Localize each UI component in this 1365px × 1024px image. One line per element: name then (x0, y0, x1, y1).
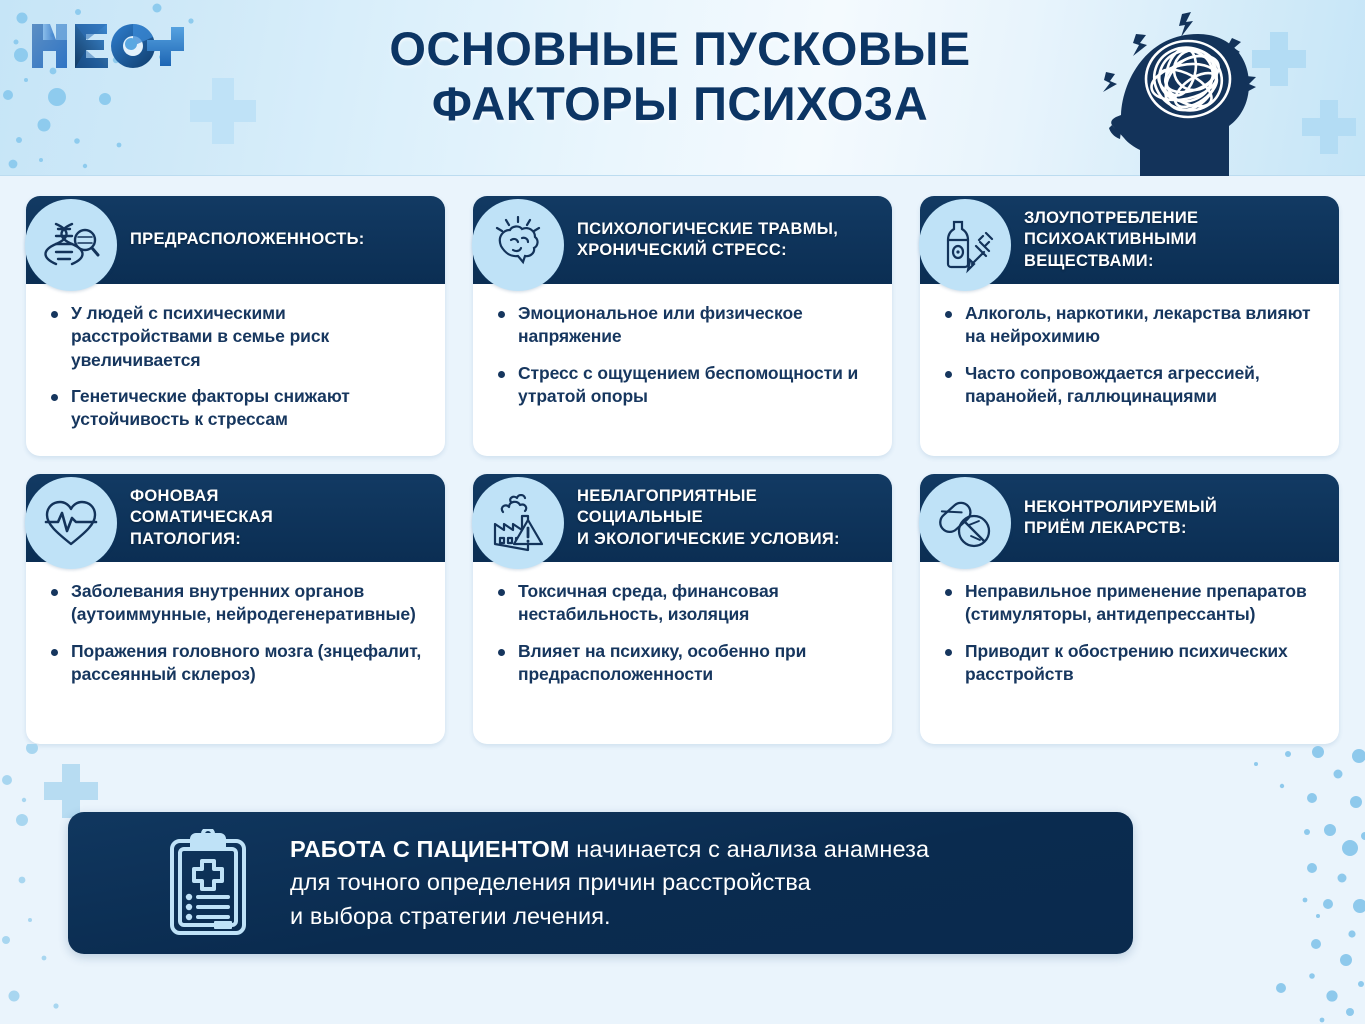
page-title-line-2: ФАКТОРЫ ПСИХОЗА (300, 77, 1060, 132)
cards-row-2: ФОНОВАЯ СОМАТИЧЕСКАЯ ПАТОЛОГИЯ: Заболева… (26, 474, 1339, 744)
head-with-tangled-thoughts-icon (1086, 4, 1286, 176)
card-title-line: ПРЕДРАСПОЛОЖЕННОСТЬ: (130, 229, 365, 250)
card-substance-abuse[interactable]: ЗЛОУПОТРЕБЛЕНИЕ ПСИХОАКТИВНЫМИ ВЕЩЕСТВАМ… (920, 196, 1339, 456)
card-title-line: ФОНОВАЯ (130, 486, 273, 507)
footer-banner: РАБОТА С ПАЦИЕНТОМ начинается с анализа … (68, 812, 1133, 954)
card-header: НЕКОНТРОЛИРУЕМЫЙ ПРИЁМ ЛЕКАРСТВ: (920, 474, 1339, 562)
card-title-line: ПСИХОАКТИВНЫМИ (1024, 229, 1198, 250)
card-body: Заболевания внутренних органов (аутоимму… (26, 562, 445, 709)
list-item: У людей с психическими расстройствами в … (46, 302, 427, 372)
card-title: НЕБЛАГОПРИЯТНЫЕ СОЦИАЛЬНЫЕ И ЭКОЛОГИЧЕСК… (577, 486, 852, 549)
pills-icon (919, 477, 1011, 569)
footer-bold-phrase: РАБОТА С ПАЦИЕНТОМ (290, 836, 570, 862)
list-item: Влияет на психику, особенно при предрасп… (493, 640, 874, 687)
card-title: ФОНОВАЯ СОМАТИЧЕСКАЯ ПАТОЛОГИЯ: (130, 486, 285, 549)
card-title-line: ПАТОЛОГИЯ: (130, 529, 273, 550)
page-title: ОСНОВНЫЕ ПУСКОВЫЕ ФАКТОРЫ ПСИХОЗА (300, 22, 1060, 132)
list-item: Неправильное применение препаратов (стим… (940, 580, 1321, 627)
clipboard-medical-icon (166, 829, 250, 937)
card-header: ЗЛОУПОТРЕБЛЕНИЕ ПСИХОАКТИВНЫМИ ВЕЩЕСТВАМ… (920, 196, 1339, 284)
card-title-line: И ЭКОЛОГИЧЕСКИЕ УСЛОВИЯ: (577, 529, 840, 550)
list-item: Приводит к обострению психических расстр… (940, 640, 1321, 687)
card-predisposition[interactable]: ПРЕДРАСПОЛОЖЕННОСТЬ: У людей с психическ… (26, 196, 445, 456)
card-header: ПСИХОЛОГИЧЕСКИЕ ТРАВМЫ, ХРОНИЧЕСКИЙ СТРЕ… (473, 196, 892, 284)
list-item: Часто сопровождается агрессией, паранойе… (940, 362, 1321, 409)
card-title-line: СОМАТИЧЕСКАЯ (130, 507, 273, 528)
bottom-right-decorations (1160, 744, 1365, 1024)
footer-line-1: РАБОТА С ПАЦИЕНТОМ начинается с анализа … (290, 833, 929, 866)
card-title-line: СОЦИАЛЬНЫЕ (577, 507, 840, 528)
list-item: Заболевания внутренних органов (аутоимму… (46, 580, 427, 627)
card-body: У людей с психическими расстройствами в … (26, 284, 445, 454)
card-body: Неправильное применение препаратов (стим… (920, 562, 1339, 709)
card-title-line: ВЕЩЕСТВАМИ: (1024, 251, 1198, 272)
list-item: Токсичная среда, финансовая нестабильнос… (493, 580, 874, 627)
card-title: ПРЕДРАСПОЛОЖЕННОСТЬ: (130, 229, 377, 250)
bullet-list: Эмоциональное или физическое напряжение … (493, 302, 874, 408)
card-title: НЕКОНТРОЛИРУЕМЫЙ ПРИЁМ ЛЕКАРСТВ: (1024, 497, 1229, 539)
bottle-syringe-icon (919, 199, 1011, 291)
footer-line-2: для точного определения причин расстройс… (290, 866, 929, 899)
list-item: Стресс с ощущением беспомощности и утрат… (493, 362, 874, 409)
list-item: Эмоциональное или физическое напряжение (493, 302, 874, 349)
dna-magnifier-icon (25, 199, 117, 291)
card-uncontrolled-medication[interactable]: НЕКОНТРОЛИРУЕМЫЙ ПРИЁМ ЛЕКАРСТВ: Неправи… (920, 474, 1339, 744)
card-somatic-pathology[interactable]: ФОНОВАЯ СОМАТИЧЕСКАЯ ПАТОЛОГИЯ: Заболева… (26, 474, 445, 744)
list-item: Алкоголь, наркотики, лекарства влияют на… (940, 302, 1321, 349)
list-item: Генетические факторы снижают устойчивост… (46, 385, 427, 432)
card-title-line: НЕБЛАГОПРИЯТНЫЕ (577, 486, 840, 507)
bullet-list: Токсичная среда, финансовая нестабильнос… (493, 580, 874, 686)
bullet-list: Заболевания внутренних органов (аутоимму… (46, 580, 427, 686)
brand-logo (28, 18, 188, 80)
cards-row-1: ПРЕДРАСПОЛОЖЕННОСТЬ: У людей с психическ… (26, 196, 1339, 456)
header-band: ОСНОВНЫЕ ПУСКОВЫЕ ФАКТОРЫ ПСИХОЗА (0, 0, 1365, 176)
card-title-line: ПСИХОЛОГИЧЕСКИЕ ТРАВМЫ, (577, 219, 838, 240)
card-header: ПРЕДРАСПОЛОЖЕННОСТЬ: (26, 196, 445, 284)
card-title-line: ПРИЁМ ЛЕКАРСТВ: (1024, 518, 1217, 539)
bullet-list: Алкоголь, наркотики, лекарства влияют на… (940, 302, 1321, 408)
card-title-line: НЕКОНТРОЛИРУЕМЫЙ (1024, 497, 1217, 518)
heart-pulse-icon (25, 477, 117, 569)
card-title: ПСИХОЛОГИЧЕСКИЕ ТРАВМЫ, ХРОНИЧЕСКИЙ СТРЕ… (577, 219, 850, 261)
card-body: Эмоциональное или физическое напряжение … (473, 284, 892, 431)
page-title-line-1: ОСНОВНЫЕ ПУСКОВЫЕ (300, 22, 1060, 77)
card-title: ЗЛОУПОТРЕБЛЕНИЕ ПСИХОАКТИВНЫМИ ВЕЩЕСТВАМ… (1024, 208, 1210, 271)
cards-grid: ПРЕДРАСПОЛОЖЕННОСТЬ: У людей с психическ… (26, 196, 1339, 744)
footer-line-3: и выбора стратегии лечения. (290, 900, 929, 933)
list-item: Поражения головного мозга (знцефалит, ра… (46, 640, 427, 687)
card-header: НЕБЛАГОПРИЯТНЫЕ СОЦИАЛЬНЫЕ И ЭКОЛОГИЧЕСК… (473, 474, 892, 562)
bullet-list: Неправильное применение препаратов (стим… (940, 580, 1321, 686)
card-title-line: ХРОНИЧЕСКИЙ СТРЕСС: (577, 240, 838, 261)
bullet-list: У людей с психическими расстройствами в … (46, 302, 427, 431)
footer-line-1-rest: начинается с анализа анамнеза (570, 836, 930, 862)
card-title-line: ЗЛОУПОТРЕБЛЕНИЕ (1024, 208, 1198, 229)
card-psychological-trauma[interactable]: ПСИХОЛОГИЧЕСКИЕ ТРАВМЫ, ХРОНИЧЕСКИЙ СТРЕ… (473, 196, 892, 456)
card-social-ecological[interactable]: НЕБЛАГОПРИЯТНЫЕ СОЦИАЛЬНЫЕ И ЭКОЛОГИЧЕСК… (473, 474, 892, 744)
card-body: Токсичная среда, финансовая нестабильнос… (473, 562, 892, 709)
card-body: Алкоголь, наркотики, лекарства влияют на… (920, 284, 1339, 431)
factory-warning-icon (472, 477, 564, 569)
footer-text: РАБОТА С ПАЦИЕНТОМ начинается с анализа … (290, 833, 929, 933)
infographic-page: ОСНОВНЫЕ ПУСКОВЫЕ ФАКТОРЫ ПСИХОЗА (0, 0, 1365, 1024)
stressed-brain-icon (472, 199, 564, 291)
card-header: ФОНОВАЯ СОМАТИЧЕСКАЯ ПАТОЛОГИЯ: (26, 474, 445, 562)
